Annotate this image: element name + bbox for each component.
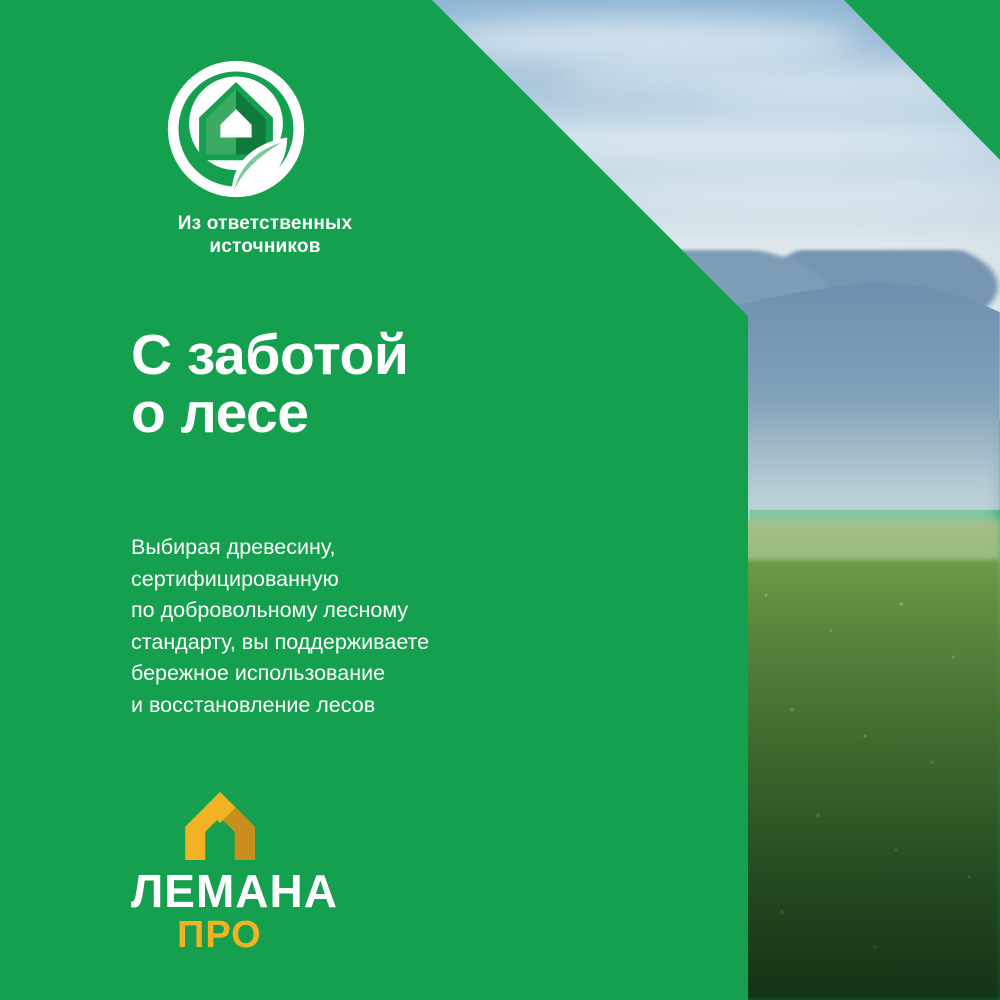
poster: Из ответственных источников С заботой о … — [0, 0, 1000, 1000]
body-paragraph: Выбирая древесину, сертифицированную по … — [131, 532, 429, 722]
brand-lockup: ЛЕМАНА ПРО — [131, 790, 361, 954]
house-leaf-circle-icon — [165, 58, 307, 200]
brand-name: ЛЕМАНА — [131, 868, 361, 914]
certification-badge: Из ответственных источников — [120, 58, 450, 258]
brand-suffix: ПРО — [177, 916, 361, 954]
poster-content: Из ответственных источников С заботой о … — [0, 0, 1000, 1000]
certification-badge-caption: Из ответственных источников — [120, 212, 410, 258]
house-roof-icon — [183, 790, 257, 862]
page-title: С заботой о лесе — [131, 326, 408, 442]
